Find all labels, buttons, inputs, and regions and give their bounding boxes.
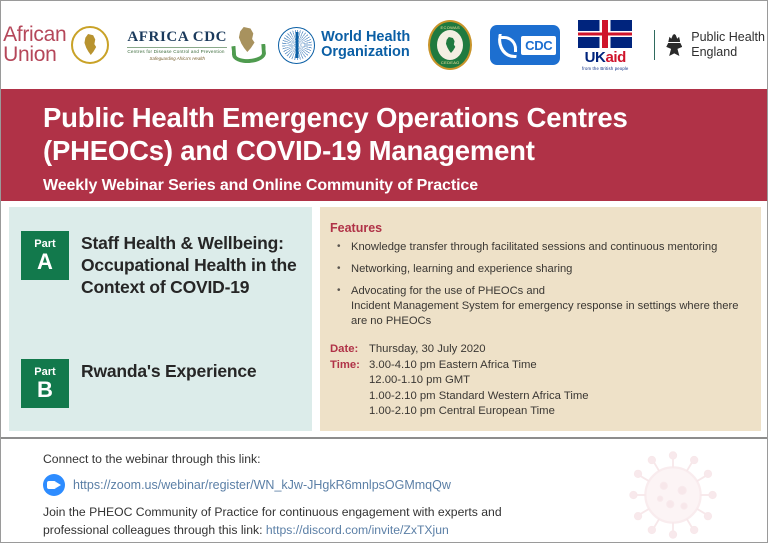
page-subtitle: Weekly Webinar Series and Online Communi… (43, 176, 767, 196)
africa-cdc-logo: AFRICA CDC Centres for Disease Control a… (127, 27, 260, 63)
date-label: Date: (330, 342, 369, 358)
feature-item: Advocating for the use of PHEOCs and Inc… (330, 284, 751, 329)
time-alt-wat: 1.00-2.10 pm Standard Western Africa Tim… (369, 389, 751, 405)
zoom-registration-link[interactable]: https://zoom.us/webinar/register/WN_kJw-… (73, 478, 451, 492)
uk-aid-uk: UK (585, 49, 606, 66)
union-jack-icon (578, 20, 632, 48)
community-line2-prefix: professional colleagues through this lin… (43, 523, 266, 537)
uk-aid-logo: UKaid from the British people (578, 20, 632, 71)
part-badge-b: Part B (21, 359, 69, 408)
uk-aid-block: UKaid from the British people (578, 20, 632, 71)
connect-instruction: Connect to the webinar through this link… (43, 450, 767, 468)
session-title-b: Rwanda's Experience (81, 359, 256, 382)
african-union-logo: African Union (3, 25, 109, 65)
date-value: Thursday, 30 July 2020 (369, 342, 486, 358)
part-letter-b: B (37, 378, 53, 401)
africa-cdc-subtitle: Centres for Disease Control and Preventi… (127, 47, 227, 54)
feature-item: Networking, learning and experience shar… (330, 262, 751, 277)
who-line2: Organization (321, 45, 410, 60)
african-union-line1: African (3, 25, 66, 45)
features-list: Knowledge transfer through facilitated s… (330, 240, 751, 329)
us-cdc-label: CDC (521, 36, 556, 55)
part-letter-a: A (37, 250, 53, 273)
webinar-flyer: African Union AFRICA CDC Centres for Dis… (0, 0, 768, 543)
content-area: Part A Staff Health & Wellbeing: Occupat… (1, 201, 767, 437)
africa-cdc-tagline: Safeguarding Africa's Health (127, 56, 227, 61)
features-panel: Features Knowledge transfer through faci… (320, 207, 761, 431)
partner-logo-bar: African Union AFRICA CDC Centres for Dis… (1, 1, 767, 89)
community-line2: professional colleagues through this lin… (43, 521, 767, 539)
time-alt-gmt: 12.00-1.10 pm GMT (369, 373, 751, 389)
time-label: Time: (330, 358, 369, 374)
royal-crest-icon (664, 34, 684, 56)
waho-ecowas-logo: ECOWAS CEDEAO (428, 20, 472, 70)
time-value: 3.00-4.10 pm Eastern Africa Time (369, 358, 537, 374)
zoom-camera-icon (43, 474, 65, 496)
who-logo: World Health Organization (278, 27, 410, 64)
community-line1: Join the PHEOC Community of Practice for… (43, 503, 767, 521)
schedule-block: Date: Thursday, 30 July 2020 Time: 3.00-… (330, 342, 751, 420)
schedule-date-row: Date: Thursday, 30 July 2020 (330, 342, 751, 358)
us-cdc-badge: CDC (490, 25, 560, 65)
feature-item: Knowledge transfer through facilitated s… (330, 240, 751, 255)
hhs-bird-icon (494, 32, 518, 58)
session-item-a: Part A Staff Health & Wellbeing: Occupat… (21, 231, 302, 298)
phe-wordmark: Public Health England (691, 30, 765, 60)
footer-area: Connect to the webinar through this link… (1, 437, 767, 543)
community-paragraph: Join the PHEOC Community of Practice for… (43, 503, 767, 539)
african-union-wordmark: African Union (3, 25, 66, 65)
waho-top-text: ECOWAS (430, 25, 470, 30)
schedule-time-row: Time: 3.00-4.10 pm Eastern Africa Time (330, 358, 751, 374)
features-heading: Features (330, 221, 751, 235)
us-cdc-logo: CDC (490, 25, 560, 65)
waho-bottom-text: CEDEAO (430, 60, 470, 65)
africa-cdc-title: AFRICA CDC (127, 29, 227, 46)
who-wordmark: World Health Organization (321, 30, 410, 60)
page-title-line1: Public Health Emergency Operations Centr… (43, 101, 767, 134)
who-emblem-icon (278, 27, 315, 64)
discord-invite-link[interactable]: https://discord.com/invite/ZxTXjun (266, 523, 449, 537)
africa-cdc-wordmark: AFRICA CDC Centres for Disease Control a… (127, 29, 227, 61)
phe-line1: Public Health (691, 30, 765, 45)
waho-inner-emblem (437, 30, 463, 60)
page-title-line2: (PHEOCs) and COVID-19 Management (43, 134, 767, 167)
africa-map-emblem-icon (71, 26, 109, 64)
time-alt-cet: 1.00-2.10 pm Central European Time (369, 404, 751, 420)
session-item-b: Part B Rwanda's Experience (21, 359, 302, 408)
zoom-link-row[interactable]: https://zoom.us/webinar/register/WN_kJw-… (43, 474, 767, 496)
uk-aid-wordmark: UKaid (578, 49, 632, 66)
session-title-a: Staff Health & Wellbeing: Occupational H… (81, 231, 302, 298)
phe-line2: England (691, 45, 765, 60)
waho-seal-icon: ECOWAS CEDEAO (428, 20, 472, 70)
who-line1: World Health (321, 30, 410, 45)
part-badge-a: Part A (21, 231, 69, 280)
uk-aid-tagline: from the British people (578, 66, 632, 71)
uk-aid-aid: aid (605, 49, 625, 66)
public-health-england-logo: Public Health England (654, 30, 765, 60)
african-union-line2: Union (3, 45, 66, 65)
title-banner: Public Health Emergency Operations Centr… (1, 89, 767, 201)
sessions-panel: Part A Staff Health & Wellbeing: Occupat… (9, 207, 312, 431)
africa-cdc-map-icon (230, 27, 260, 63)
